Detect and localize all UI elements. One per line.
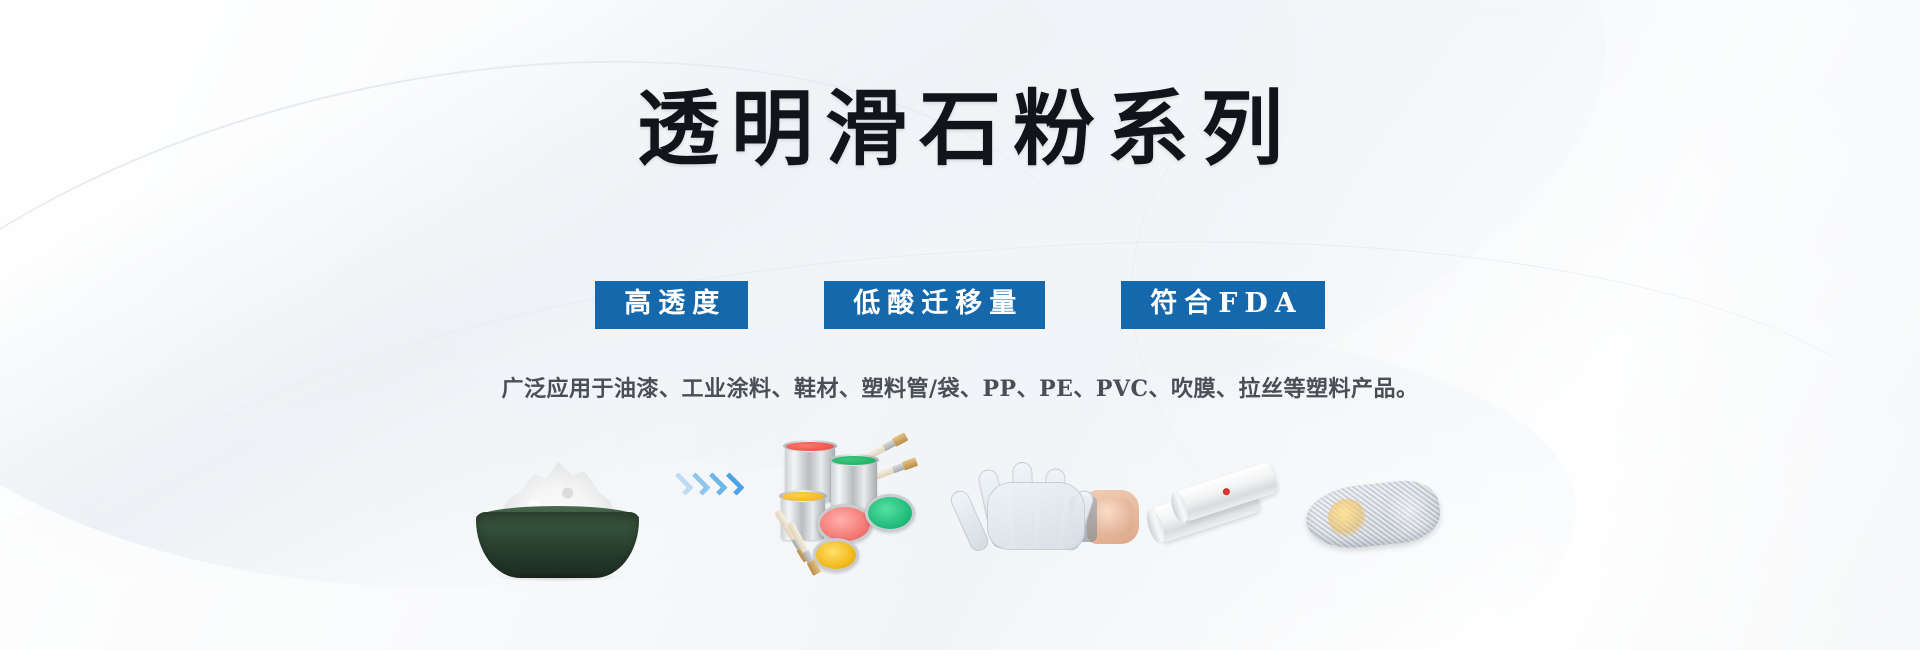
feature-badge-fda-compliant[interactable]: 符合FDA: [1121, 281, 1325, 329]
gloved-hand-image: [938, 428, 1138, 578]
bowl-illustration: [470, 460, 645, 578]
chevron-right-icon: [674, 469, 690, 499]
product-application-strip: [0, 418, 1920, 578]
glove-illustration: [943, 452, 1133, 578]
rolls-illustration: [1143, 458, 1283, 578]
fist: [1093, 498, 1133, 536]
talc-powder-bowl-image: [463, 428, 653, 578]
feature-badge-low-acid-migration[interactable]: 低酸迁移量: [824, 281, 1045, 329]
process-arrows-image: [653, 428, 763, 578]
chevron-right-icon: [725, 469, 741, 499]
chevron-right-icon: [708, 469, 724, 499]
banner-content: 透明滑石粉系列 高透度 低酸迁移量 符合FDA 广泛应用于油漆、工业涂料、鞋材、…: [0, 0, 1920, 650]
paint-cans-image: [763, 428, 938, 578]
product-banner: 透明滑石粉系列 高透度 低酸迁移量 符合FDA 广泛应用于油漆、工业涂料、鞋材、…: [0, 0, 1920, 650]
film-rolls-image: [1138, 428, 1288, 578]
banner-description: 广泛应用于油漆、工业涂料、鞋材、塑料管/袋、PP、PE、PVC、吹膜、拉丝等塑料…: [0, 371, 1920, 403]
chevron-arrow-group: [674, 469, 741, 499]
glove-palm: [987, 482, 1085, 550]
insole-body: [1303, 477, 1443, 553]
feature-badge-list: 高透度 低酸迁移量 符合FDA: [0, 281, 1920, 329]
bowl-body: [476, 512, 639, 578]
feature-badge-high-transparency[interactable]: 高透度: [595, 281, 748, 329]
pigment-disc-green: [865, 494, 915, 532]
insole-illustration: [1298, 458, 1448, 578]
shoe-insole-image: [1288, 428, 1458, 578]
banner-title: 透明滑石粉系列: [0, 88, 1920, 170]
paint-illustration: [765, 438, 935, 578]
pigment-disc-yellow: [813, 538, 859, 572]
chevron-right-icon: [691, 469, 707, 499]
bowl-shadow: [492, 572, 624, 582]
